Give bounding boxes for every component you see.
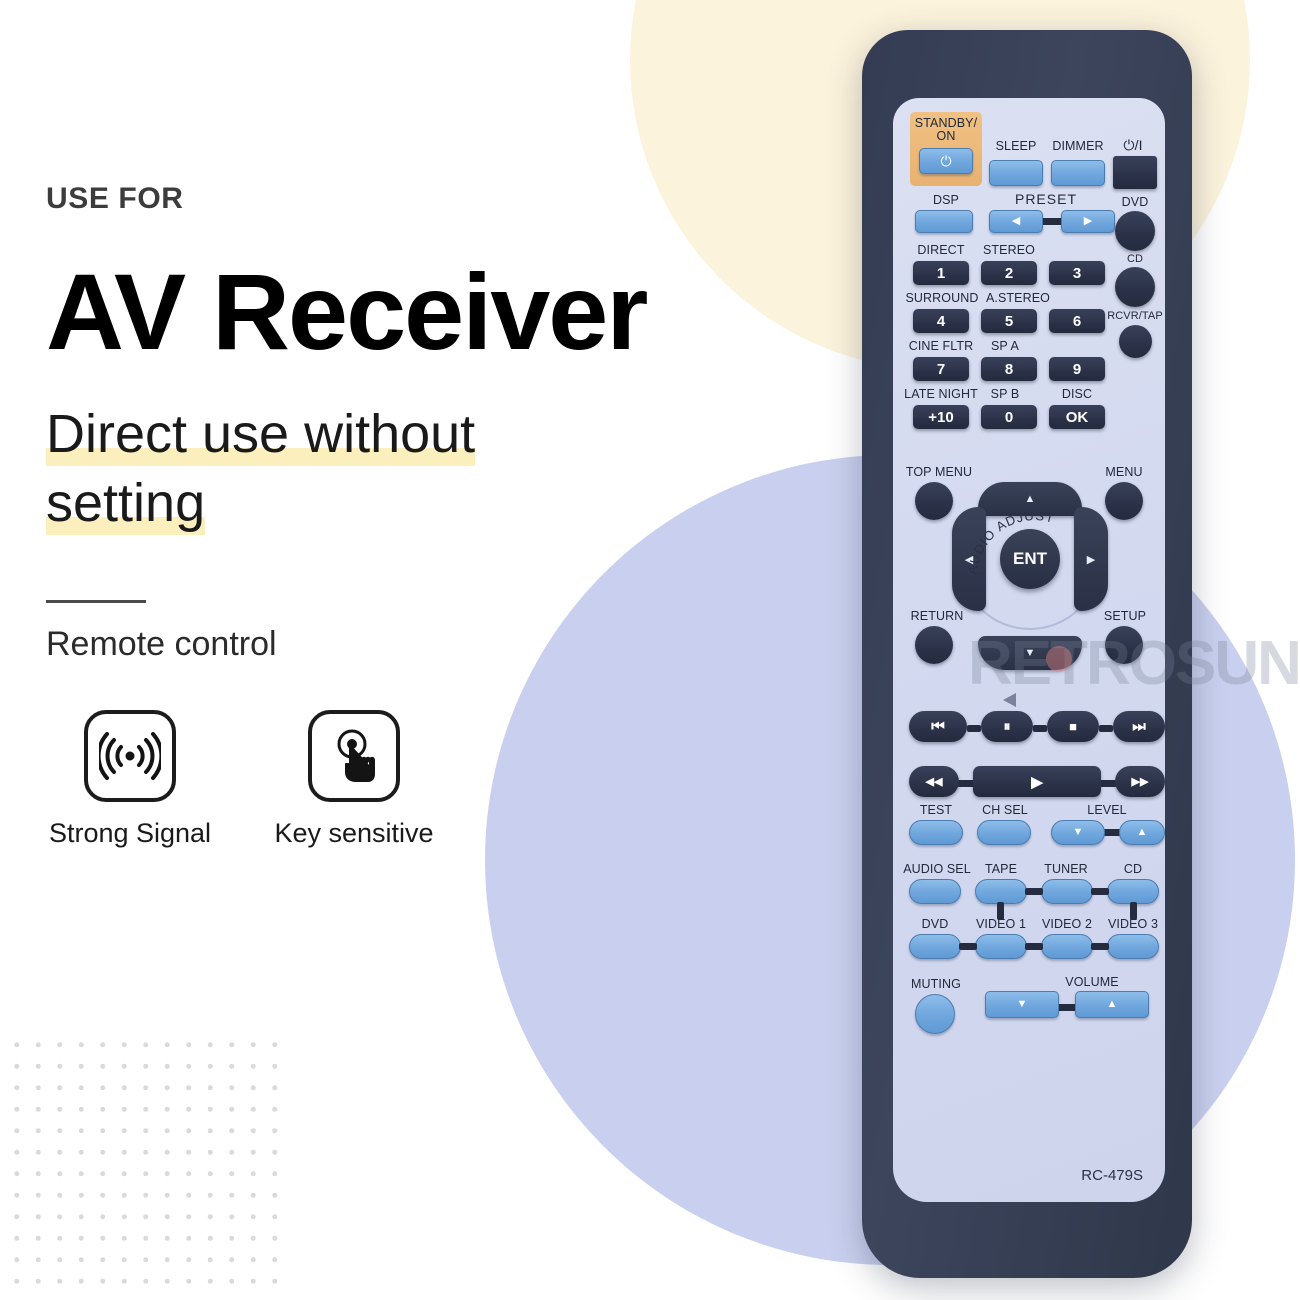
triangle-up-icon: ▲ (1107, 999, 1118, 1010)
source-connector-1 (1025, 888, 1043, 895)
late-night-label: LATE NIGHT (897, 388, 985, 401)
fast-forward-icon: ▶▶ (1132, 775, 1149, 788)
dimmer-button[interactable] (1051, 160, 1105, 186)
volume-up-button[interactable]: ▲ (1075, 991, 1149, 1018)
dimmer-label: DIMMER (1048, 140, 1108, 153)
subheadline-line-1: Direct use without (46, 404, 475, 466)
fast-forward-button[interactable]: ▶▶ (1115, 766, 1165, 797)
skip-back-icon: ⏮ (931, 718, 945, 735)
keypad-button-5[interactable]: 5 (981, 309, 1037, 333)
remote-faceplate: STANDBY/ ON ⏻ SLEEP DIMMER ⏻/I DSP PRESE… (893, 98, 1165, 1202)
tuner-button[interactable] (1041, 879, 1093, 904)
cd-source-button[interactable] (1107, 879, 1159, 904)
a-stereo-label: A.STEREO (979, 292, 1057, 305)
play-icon: ▶ (1031, 773, 1043, 791)
keypad-key-label: 1 (937, 265, 945, 282)
setup-button[interactable] (1105, 626, 1143, 664)
touch-key-icon (308, 710, 400, 802)
keypad-key-label: 9 (1073, 361, 1081, 378)
direct-label: DIRECT (907, 244, 975, 257)
keypad-key-label: OK (1066, 409, 1089, 426)
muting-button[interactable] (915, 994, 955, 1034)
skip-forward-icon: ⏭ (1132, 718, 1146, 735)
keypad-button-7[interactable]: 7 (913, 357, 969, 381)
ch-sel-button[interactable] (977, 820, 1031, 845)
source-connector-3 (959, 943, 977, 950)
keypad-key-label: 6 (1073, 313, 1081, 330)
tape-button[interactable] (975, 879, 1027, 904)
dvd-side-button[interactable] (1115, 211, 1155, 251)
dvd-source-button[interactable] (909, 934, 961, 959)
menu-label: MENU (1091, 466, 1157, 479)
dot-grid-pattern (0, 1028, 290, 1300)
pause-button[interactable]: ⏸ (981, 711, 1033, 742)
volume-label: VOLUME (1027, 976, 1157, 989)
triangle-left-icon: ◀ (1012, 216, 1020, 227)
cd-side-button[interactable] (1115, 267, 1155, 307)
stop-button[interactable]: ■ (1047, 711, 1099, 742)
tuner-label: TUNER (1039, 863, 1093, 876)
sleep-label: SLEEP (987, 140, 1045, 153)
source-connector-2 (1091, 888, 1109, 895)
muting-label: MUTING (901, 978, 971, 991)
rcvr-tap-label: RCVR/TAP (1105, 311, 1165, 323)
keypad-button-plus10[interactable]: +10 (913, 405, 969, 429)
stop-icon: ■ (1069, 719, 1077, 734)
eyebrow-text: USE FOR (46, 182, 846, 216)
keypad-key-label: 7 (937, 361, 945, 378)
volume-connector (1057, 1004, 1077, 1011)
return-button[interactable] (915, 626, 953, 664)
level-up-button[interactable]: ▲ (1119, 820, 1165, 845)
ent-label: ENT (1013, 549, 1047, 569)
dpad-left-button[interactable]: ◀ (952, 507, 986, 611)
previous-track-button[interactable]: ⏮ (909, 711, 967, 742)
transport-connector-3 (1099, 725, 1113, 732)
power-toggle-button[interactable] (1113, 156, 1157, 189)
source-connector-5 (1091, 943, 1109, 950)
signal-waves-icon (84, 710, 176, 802)
disc-label: DISC (1049, 388, 1105, 401)
dvd-source-label: DVD (909, 918, 961, 931)
triangle-down-icon: ▼ (1025, 647, 1036, 659)
power-toggle-label: ⏻/I (1109, 138, 1157, 153)
video-1-button[interactable] (975, 934, 1027, 959)
sp-b-label: SP B (979, 388, 1031, 401)
transport-connector-2 (1033, 725, 1047, 732)
section-label: Remote control (46, 625, 846, 664)
triangle-left-icon: ◀ (965, 553, 973, 566)
preset-label: PRESET (987, 192, 1105, 207)
standby-on-button[interactable]: ⏻ (919, 148, 973, 174)
model-number: RC-479S (1081, 1167, 1143, 1184)
pause-icon: ⏸ (1004, 718, 1011, 735)
video-3-label: VIDEO 3 (1103, 918, 1163, 931)
keypad-button-0[interactable]: 0 (981, 405, 1037, 429)
cd-side-label: CD (1111, 254, 1159, 266)
triangle-up-icon: ▲ (1137, 827, 1148, 838)
keypad-key-label: 0 (1005, 409, 1013, 426)
transport-connector-1 (967, 725, 981, 732)
keypad-button-4[interactable]: 4 (913, 309, 969, 333)
dpad-down-button[interactable]: ▼ (978, 636, 1082, 670)
cd-source-label: CD (1107, 863, 1159, 876)
triangle-up-icon: ▲ (1025, 493, 1036, 505)
play-button[interactable]: ▶ (973, 766, 1101, 797)
keypad-key-label: +10 (928, 409, 953, 426)
rcvr-tap-button[interactable] (1119, 325, 1152, 358)
preset-left-button[interactable]: ◀ (989, 210, 1043, 233)
ch-sel-label: CH SEL (975, 804, 1035, 817)
top-menu-label: TOP MENU (899, 466, 979, 479)
dvd-side-label: DVD (1111, 196, 1159, 209)
keypad-key-label: 8 (1005, 361, 1013, 378)
feature-caption: Strong Signal (46, 818, 214, 849)
keypad-key-label: 4 (937, 313, 945, 330)
dsp-button[interactable] (915, 210, 973, 233)
keypad-key-label: 5 (1005, 313, 1013, 330)
remote-control-device: STANDBY/ ON ⏻ SLEEP DIMMER ⏻/I DSP PRESE… (862, 30, 1192, 1278)
divider (46, 600, 146, 603)
setup-label: SETUP (1093, 610, 1157, 623)
subheadline-line-2: setting (46, 473, 205, 535)
feature-list: Strong Signal Key sensitive (46, 710, 846, 849)
keypad-button-8[interactable]: 8 (981, 357, 1037, 381)
triangle-down-icon: ▼ (1017, 999, 1028, 1010)
level-down-button[interactable]: ▼ (1051, 820, 1105, 845)
triangle-right-icon: ▶ (1087, 553, 1095, 566)
video-3-button[interactable] (1107, 934, 1159, 959)
keypad-button-1[interactable]: 1 (913, 261, 969, 285)
dpad-up-button[interactable]: ▲ (978, 482, 1082, 516)
video-1-label: VIDEO 1 (971, 918, 1031, 931)
next-track-button[interactable]: ⏭ (1113, 711, 1165, 742)
preset-connector (1041, 218, 1063, 225)
page-title: AV Receiver (46, 258, 846, 366)
dpad-right-button[interactable]: ▶ (1074, 507, 1108, 611)
playback-direction-marker (1003, 693, 1016, 707)
surround-label: SURROUND (901, 292, 983, 305)
video-2-button[interactable] (1041, 934, 1093, 959)
keypad-button-2[interactable]: 2 (981, 261, 1037, 285)
triangle-right-icon: ▶ (1084, 216, 1092, 227)
audio-sel-button[interactable] (909, 879, 961, 904)
keypad-button-ok[interactable]: OK (1049, 405, 1105, 429)
keypad-key-label: 2 (1005, 265, 1013, 282)
volume-down-button[interactable]: ▼ (985, 991, 1059, 1018)
subheadline: Direct use without setting (46, 400, 606, 538)
cine-fltr-label: CINE FLTR (903, 340, 979, 353)
rewind-button[interactable]: ◀◀ (909, 766, 959, 797)
menu-button[interactable] (1105, 482, 1143, 520)
sp-a-label: SP A (979, 340, 1031, 353)
rewind-icon: ◀◀ (926, 775, 943, 788)
video-2-label: VIDEO 2 (1037, 918, 1097, 931)
marketing-copy: USE FOR AV Receiver Direct use without s… (46, 182, 846, 849)
source-connector-4 (1025, 943, 1043, 950)
level-label: LEVEL (1055, 804, 1159, 817)
keypad-button-3[interactable]: 3 (1049, 261, 1105, 285)
top-menu-button[interactable] (915, 482, 953, 520)
ent-button[interactable]: ENT (1000, 529, 1060, 589)
return-label: RETURN (899, 610, 975, 623)
feature-caption: Key sensitive (270, 818, 438, 849)
feature-strong-signal: Strong Signal (46, 710, 214, 849)
dsp-label: DSP (910, 194, 982, 207)
feature-key-sensitive: Key sensitive (270, 710, 438, 849)
keypad-button-6[interactable]: 6 (1049, 309, 1105, 333)
test-label: TEST (907, 804, 965, 817)
standby-label-line2: ON (937, 130, 956, 143)
stereo-label: STEREO (975, 244, 1043, 257)
tape-label: TAPE (975, 863, 1027, 876)
keypad-key-label: 3 (1073, 265, 1081, 282)
test-button[interactable] (909, 820, 963, 845)
keypad-button-9[interactable]: 9 (1049, 357, 1105, 381)
sleep-button[interactable] (989, 160, 1043, 186)
triangle-down-icon: ▼ (1073, 827, 1084, 838)
standby-on-pad: STANDBY/ ON ⏻ (910, 112, 982, 186)
preset-right-button[interactable]: ▶ (1061, 210, 1115, 233)
audio-sel-label: AUDIO SEL (901, 863, 973, 876)
power-icon: ⏻ (940, 154, 951, 168)
